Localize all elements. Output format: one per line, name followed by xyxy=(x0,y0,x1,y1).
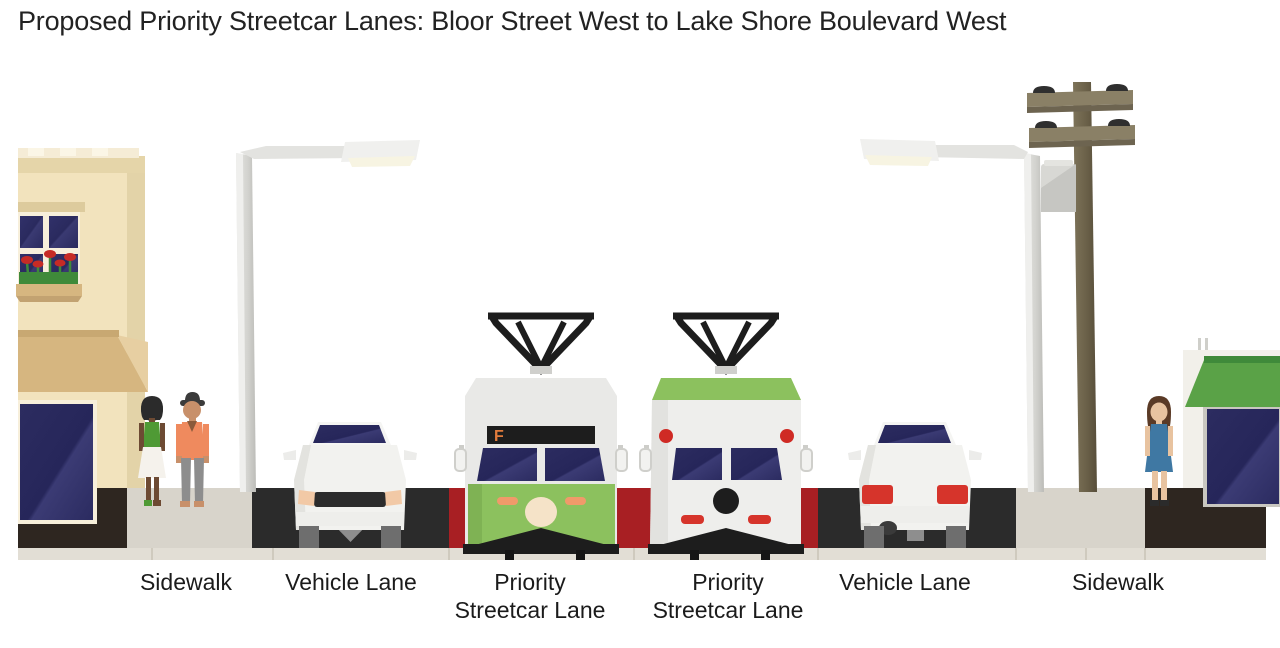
car-right-rear-window xyxy=(878,425,951,443)
storefront-window-glass xyxy=(20,404,93,520)
streetcar-green-headlight xyxy=(525,497,557,527)
lane-label-priority-streetcar-lane-left: Priority Streetcar Lane xyxy=(440,568,620,624)
streetcar-white-tail-light-right xyxy=(748,515,771,524)
car-left-mirror-right xyxy=(404,450,417,460)
streetcar-white-mirror-right xyxy=(801,445,812,471)
pedestrian-blue-shoe-left xyxy=(1150,500,1159,506)
streetcar-green-mirror-right xyxy=(616,445,627,471)
streetcar-green-pantograph xyxy=(488,315,594,370)
streetcar-green-windshield-right xyxy=(545,448,605,481)
car-front-view xyxy=(283,422,417,548)
lane-label-line2: Streetcar Lane xyxy=(440,596,620,624)
pedestrian-blue-neck xyxy=(1156,419,1162,424)
pedestrian-woman-leg-left xyxy=(146,477,151,504)
pedestrian-woman-shoe-left xyxy=(144,500,152,506)
lane-label-sidewalk-left: Sidewalk xyxy=(96,568,276,596)
pedestrian-man-pants-right xyxy=(194,458,204,504)
lane-labels-row: Sidewalk Vehicle Lane Priority Streetcar… xyxy=(0,568,1280,648)
street-cross-section-illustration: F xyxy=(0,60,1280,560)
car-left-bumper xyxy=(296,512,404,526)
car-left-grille xyxy=(314,492,386,507)
lane-label-line1: Vehicle Lane xyxy=(285,569,417,595)
pedestrian-blue-arm-left xyxy=(1145,426,1150,456)
streetcar-green-bogie-post-right xyxy=(576,550,585,560)
lane-label-line1: Sidewalk xyxy=(1072,569,1164,595)
storefront-building xyxy=(1183,338,1280,507)
building-right-window-glass xyxy=(1207,409,1279,504)
streetcar-route-letter: F xyxy=(494,428,504,445)
streetcar-white xyxy=(640,315,812,560)
streetcar-white-shell-shade xyxy=(650,400,668,548)
car-left-headlight-left xyxy=(298,490,315,506)
pedestrian-man-hat-crown xyxy=(185,392,200,401)
car-right-wheel-right xyxy=(946,526,966,548)
road-surface-group xyxy=(18,488,1266,560)
car-left-windshield xyxy=(313,425,386,443)
streetcar-white-rear-window-right xyxy=(731,448,782,480)
upper-window-lintel xyxy=(18,202,85,212)
lane-label-line1: Priority xyxy=(494,569,566,595)
streetcar-white-rear-window-left xyxy=(672,448,722,480)
streetcar-white-pantograph xyxy=(673,315,779,370)
lane-label-line1: Priority xyxy=(692,569,764,595)
streetcar-white-roof-light-right xyxy=(780,429,794,443)
lane-label-vehicle-lane-left: Vehicle Lane xyxy=(261,568,441,596)
streetcar-green-mirror-left xyxy=(455,445,466,471)
streetcar-green-lower-body-shade xyxy=(468,484,482,548)
car-left-wheel-right xyxy=(381,526,401,548)
car-left-mirror-left xyxy=(283,450,296,460)
streetcar-white-bogie-post-left xyxy=(690,550,699,560)
streetcar-white-tail-light-left xyxy=(681,515,704,524)
streetcar-green-windshield-left xyxy=(477,448,537,481)
streetcar-white-bogie-post-right xyxy=(761,550,770,560)
pedestrian-man-arm-left xyxy=(176,424,182,458)
window-flower-box xyxy=(16,250,82,302)
building-right-antenna-b xyxy=(1205,338,1208,350)
streetcar-green: F xyxy=(455,315,627,560)
building-left-parapet-block-2 xyxy=(60,148,76,156)
streetcar-white-mirror-left xyxy=(640,445,651,471)
curb-strip xyxy=(18,548,1266,560)
pedestrian-blue-arm-right xyxy=(1168,426,1173,456)
pedestrian-woman-top xyxy=(143,422,161,448)
car-right-bumper xyxy=(861,506,969,523)
pedestrian-blue-leg-right xyxy=(1161,471,1167,504)
pedestrian-woman-arm-right xyxy=(160,423,165,451)
pedestrian-woman-shoe-right xyxy=(153,500,161,506)
pedestrian-woman-arm-left xyxy=(139,423,144,451)
lane-label-line1: Sidewalk xyxy=(140,569,232,595)
car-left-wheel-left xyxy=(299,526,319,548)
lane-label-sidewalk-right: Sidewalk xyxy=(1028,568,1208,596)
car-left-headlight-right xyxy=(385,490,402,506)
building-left-parapet-block-3 xyxy=(92,148,108,156)
car-right-tail-light-left xyxy=(862,485,893,504)
pedestrian-woman-leg-right xyxy=(154,477,159,504)
building-right-antenna-a xyxy=(1198,338,1201,350)
pedestrian-man-arm-right xyxy=(203,424,209,458)
pedestrian-blue-head xyxy=(1151,403,1168,422)
flower-box-planter xyxy=(16,284,82,296)
car-right-mirror-right xyxy=(969,450,982,460)
pedestrian-man-shoe-right xyxy=(194,501,204,507)
pedestrian-man-head xyxy=(183,401,201,419)
building-left-awning xyxy=(18,330,148,392)
utility-pole-transformer-box xyxy=(1041,160,1076,212)
streetcar-white-coupler xyxy=(713,488,739,514)
streetcar-green-bogie-post-left xyxy=(505,550,514,560)
streetcar-green-marker-light-left xyxy=(497,497,518,505)
flower-box-planter-shadow xyxy=(16,296,82,302)
car-right-wheel-left xyxy=(864,526,884,548)
lane-label-priority-streetcar-lane-right: Priority Streetcar Lane xyxy=(638,568,818,624)
car-rear-view xyxy=(848,422,982,548)
streetcar-white-roof-light-left xyxy=(659,429,673,443)
corner-building xyxy=(16,148,148,524)
upper-window-pane-tr xyxy=(49,216,78,248)
streetcar-white-roof-shoe xyxy=(715,366,737,374)
pedestrian-man-shoe-left xyxy=(180,501,190,507)
car-right-mirror-left xyxy=(848,450,861,460)
streetcar-white-skirt-bar xyxy=(648,544,804,554)
building-left-parapet-block-1 xyxy=(28,148,44,156)
building-left-cornice xyxy=(18,156,145,173)
pedestrian-man-pants-left xyxy=(181,458,191,504)
page-title: Proposed Priority Streetcar Lanes: Bloor… xyxy=(18,6,1006,37)
streetcar-white-roof xyxy=(652,378,801,400)
lane-label-vehicle-lane-right: Vehicle Lane xyxy=(815,568,995,596)
pedestrian-blue-shoe-right xyxy=(1160,500,1169,506)
pedestrian-woman-hair-back xyxy=(141,396,163,420)
flower-box-foliage xyxy=(19,272,78,286)
streetcar-green-roof-shoe xyxy=(530,366,552,374)
pedestrian-blue-leg-left xyxy=(1152,471,1158,504)
car-right-tail-light-right xyxy=(937,485,968,504)
streetcar-green-skirt-bar xyxy=(463,544,619,554)
lane-label-line2: Streetcar Lane xyxy=(638,596,818,624)
upper-window-pane-tl xyxy=(20,216,43,248)
streetcar-green-marker-light-right xyxy=(565,497,586,505)
lane-label-line1: Vehicle Lane xyxy=(839,569,971,595)
